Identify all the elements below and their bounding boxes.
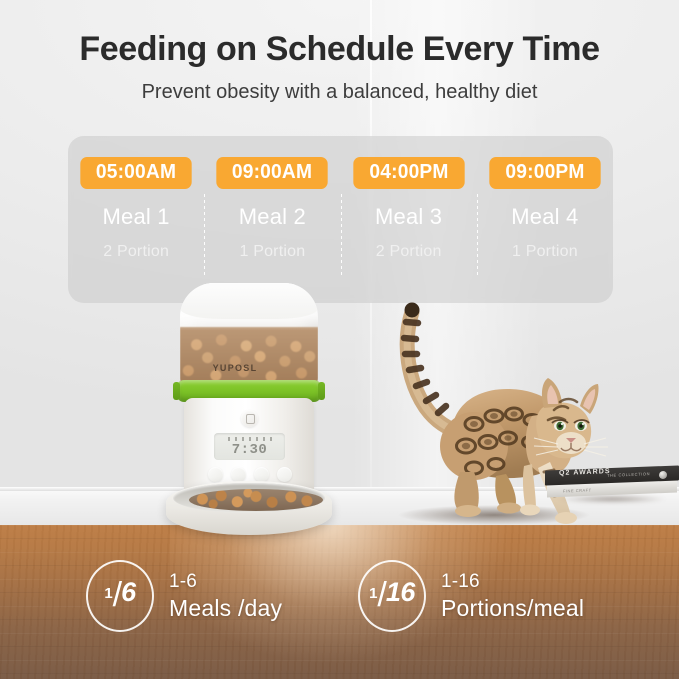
feeding-schedule-panel: 05:00AM Meal 1 2 Portion 09:00AM Meal 2 …: [68, 136, 613, 303]
schedule-portion-label: 1 Portion: [239, 243, 305, 261]
schedule-meal-label: Meal 3: [375, 204, 442, 230]
control-button-row: [208, 466, 292, 482]
feature-portions-per-meal: 1 / 16 1-16 Portions/meal: [358, 560, 584, 632]
schedule-time-badge: 09:00PM: [489, 157, 600, 189]
schedule-portion-label: 2 Portion: [103, 243, 169, 261]
fraction-numerator: 1: [369, 585, 377, 602]
fraction-numerator: 1: [104, 585, 112, 602]
feature-range: 1-6: [169, 570, 282, 593]
page-title: Feeding on Schedule Every Time: [0, 30, 679, 69]
bowl-stainless-rim: [173, 483, 325, 513]
magazine-prop: Q2 AWARDS THE COLLECTION FINE CRAFT: [545, 468, 679, 504]
product-marketing-banner: Feeding on Schedule Every Time Prevent o…: [0, 0, 679, 679]
bowl-kibble: [189, 489, 323, 511]
fraction: 1 / 6: [104, 577, 135, 614]
food-bowl: [166, 481, 332, 535]
feature-text: 1-16 Portions/meal: [441, 570, 584, 621]
feature-meals-per-day: 1 / 6 1-6 Meals /day: [86, 560, 282, 632]
fraction-denominator: 16: [386, 577, 415, 608]
power-button[interactable]: [208, 467, 223, 482]
lcd-time-value: 7:30: [232, 442, 268, 458]
schedule-portion-label: 1 Portion: [512, 243, 578, 261]
fraction: 1 / 16: [369, 577, 415, 614]
set-button[interactable]: [231, 467, 246, 482]
page-subtitle: Prevent obesity with a balanced, healthy…: [0, 81, 679, 104]
fraction-denominator: 6: [121, 577, 136, 608]
schedule-meal-label: Meal 1: [103, 204, 170, 230]
schedule-meal-label: Meal 2: [239, 204, 306, 230]
schedule-portion-label: 2 Portion: [376, 243, 442, 261]
feature-unit: Portions/meal: [441, 594, 584, 622]
feature-badges: 1 / 6 1-6 Meals /day 1 / 16 1-16 Porti: [0, 560, 679, 650]
fraction-circle-icon: 1 / 16: [358, 560, 426, 632]
schedule-time-badge: 04:00PM: [353, 157, 464, 189]
feature-text: 1-6 Meals /day: [169, 570, 282, 621]
feature-range: 1-16: [441, 570, 584, 593]
hopper-kibble: [180, 327, 318, 386]
feature-unit: Meals /day: [169, 594, 282, 622]
lcd-display: 7:30: [214, 433, 285, 460]
plus-button[interactable]: [254, 467, 269, 482]
schedule-time-badge: 09:00AM: [217, 157, 328, 189]
feed-button[interactable]: [277, 467, 292, 482]
fraction-circle-icon: 1 / 6: [86, 560, 154, 632]
schedule-time-badge: 05:00AM: [80, 157, 191, 189]
automatic-pet-feeder: YUPOSL 7:30: [166, 283, 332, 535]
schedule-column: 09:00AM Meal 2 1 Portion: [204, 136, 340, 303]
schedule-column: 09:00PM Meal 4 1 Portion: [477, 136, 613, 303]
brand-logo: YUPOSL: [166, 363, 304, 373]
hopper-lid: [180, 283, 318, 319]
schedule-column: 04:00PM Meal 3 2 Portion: [341, 136, 477, 303]
lock-dial-icon[interactable]: [241, 410, 258, 427]
schedule-column: 05:00AM Meal 1 2 Portion: [68, 136, 204, 303]
schedule-meal-label: Meal 4: [511, 204, 578, 230]
lcd-segment-ticks: [228, 437, 272, 441]
